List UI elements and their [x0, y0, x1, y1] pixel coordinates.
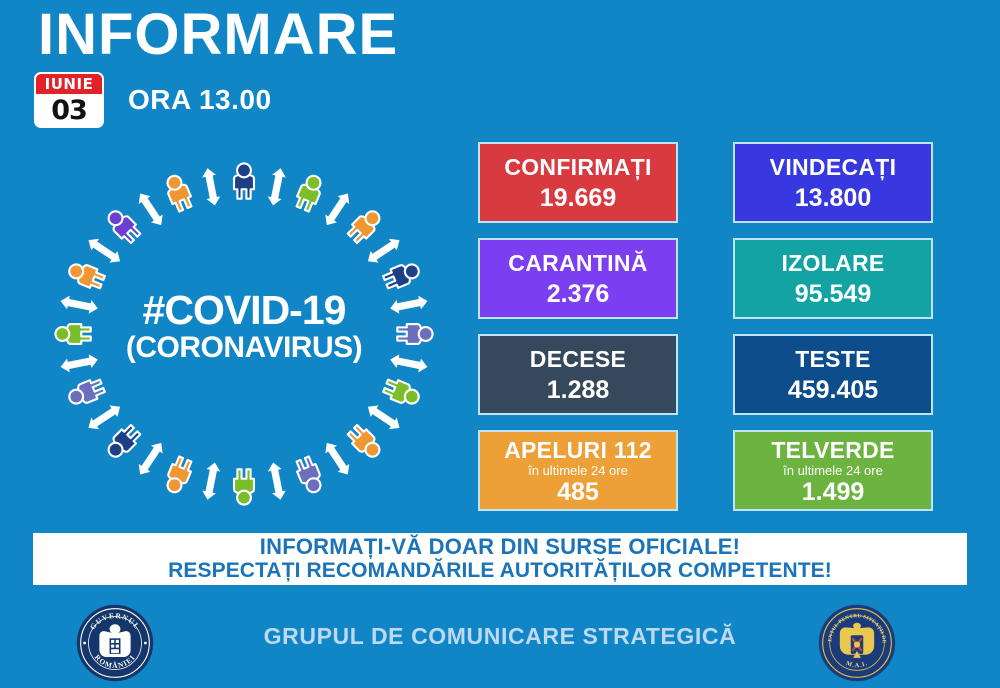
double-arrow-icon: [85, 234, 124, 267]
date-badge-month: IUNIE: [36, 74, 102, 94]
person-icon: [293, 173, 325, 213]
person-icon: [345, 206, 384, 245]
date-badge-day: 03: [36, 94, 102, 126]
stat-box-vindecati: VINDECAȚI13.800: [733, 142, 933, 223]
double-arrow-icon: [59, 294, 99, 315]
stat-label: TESTE: [795, 347, 871, 371]
stat-value: 2.376: [547, 281, 610, 307]
double-arrow-icon: [201, 167, 222, 207]
stat-box-decese: DECESE1.288: [478, 334, 678, 415]
double-arrow-icon: [364, 401, 403, 434]
person-icon: [234, 163, 254, 198]
stat-sublabel: în ultimele 24 ore: [783, 463, 883, 479]
stat-value: 13.800: [795, 185, 871, 211]
stat-value: 1.288: [547, 377, 610, 403]
stat-label: CARANTINĂ: [508, 251, 647, 275]
stat-value: 459.405: [788, 377, 878, 403]
person-icon: [234, 469, 254, 504]
person-icon: [397, 324, 432, 344]
stat-label: DECESE: [530, 347, 626, 371]
person-icon: [345, 423, 384, 462]
double-arrow-icon: [266, 461, 287, 501]
statistics-grid: CONFIRMAȚI19.669VINDECAȚI13.800CARANTINĂ…: [478, 142, 933, 514]
stat-box-carantina: CARANTINĂ2.376: [478, 238, 678, 319]
double-arrow-icon: [201, 461, 222, 501]
double-arrow-icon: [389, 294, 429, 315]
person-icon: [66, 377, 106, 409]
person-icon: [382, 260, 422, 292]
stat-label: VINDECAȚI: [770, 155, 897, 179]
stat-value: 485: [557, 479, 599, 505]
stat-box-confirmati: CONFIRMAȚI19.669: [478, 142, 678, 223]
covid-informare-poster: INFORMARE IUNIE 03 ORA 13.00 #COVID-19 (…: [0, 0, 1000, 688]
double-arrow-icon: [321, 190, 354, 229]
report-hour: ORA 13.00: [128, 84, 272, 116]
double-arrow-icon: [321, 439, 354, 478]
person-icon: [163, 455, 195, 495]
person-icon: [163, 173, 195, 213]
dsu-mai-seal-icon: DEPARTAMENTUL PENTRU SITUAȚII DE URGENȚĂ…: [818, 604, 896, 682]
double-arrow-icon: [59, 353, 99, 374]
circle-figures-svg: [34, 158, 454, 510]
double-arrow-icon: [134, 439, 167, 478]
double-arrow-icon: [364, 234, 403, 267]
official-sources-notice: INFORMAȚI-VĂ DOAR DIN SURSE OFICIALE! RE…: [33, 533, 967, 585]
stat-sublabel: în ultimele 24 ore: [528, 463, 628, 479]
person-icon: [104, 423, 143, 462]
double-arrow-icon: [134, 190, 167, 229]
stat-label: IZOLARE: [781, 251, 884, 275]
stat-label: CONFIRMAȚI: [504, 155, 651, 179]
notice-line-2: RESPECTAȚI RECOMANDĂRILE AUTORITĂȚILOR C…: [168, 559, 832, 583]
stat-box-izolare: IZOLARE95.549: [733, 238, 933, 319]
person-icon: [66, 260, 106, 292]
person-icon: [293, 455, 325, 495]
person-icon: [382, 377, 422, 409]
stat-box-apeluri-112: APELURI 112în ultimele 24 ore485: [478, 430, 678, 511]
stat-value: 1.499: [802, 479, 865, 505]
stat-box-telverde: TELVERDEîn ultimele 24 ore1.499: [733, 430, 933, 511]
page-title: INFORMARE: [38, 6, 398, 64]
notice-line-1: INFORMAȚI-VĂ DOAR DIN SURSE OFICIALE!: [260, 535, 740, 559]
person-icon: [55, 324, 90, 344]
stat-value: 95.549: [795, 281, 871, 307]
double-arrow-icon: [266, 167, 287, 207]
stat-label: TELVERDE: [771, 438, 894, 462]
double-arrow-icon: [389, 353, 429, 374]
covid-circle-graphic: #COVID-19 (CORONAVIRUS): [34, 158, 454, 510]
stat-value: 19.669: [540, 185, 616, 211]
stat-label: APELURI 112: [504, 438, 652, 462]
person-icon: [104, 206, 143, 245]
double-arrow-icon: [85, 401, 124, 434]
date-badge: IUNIE 03: [36, 74, 102, 126]
stat-box-teste: TESTE459.405: [733, 334, 933, 415]
